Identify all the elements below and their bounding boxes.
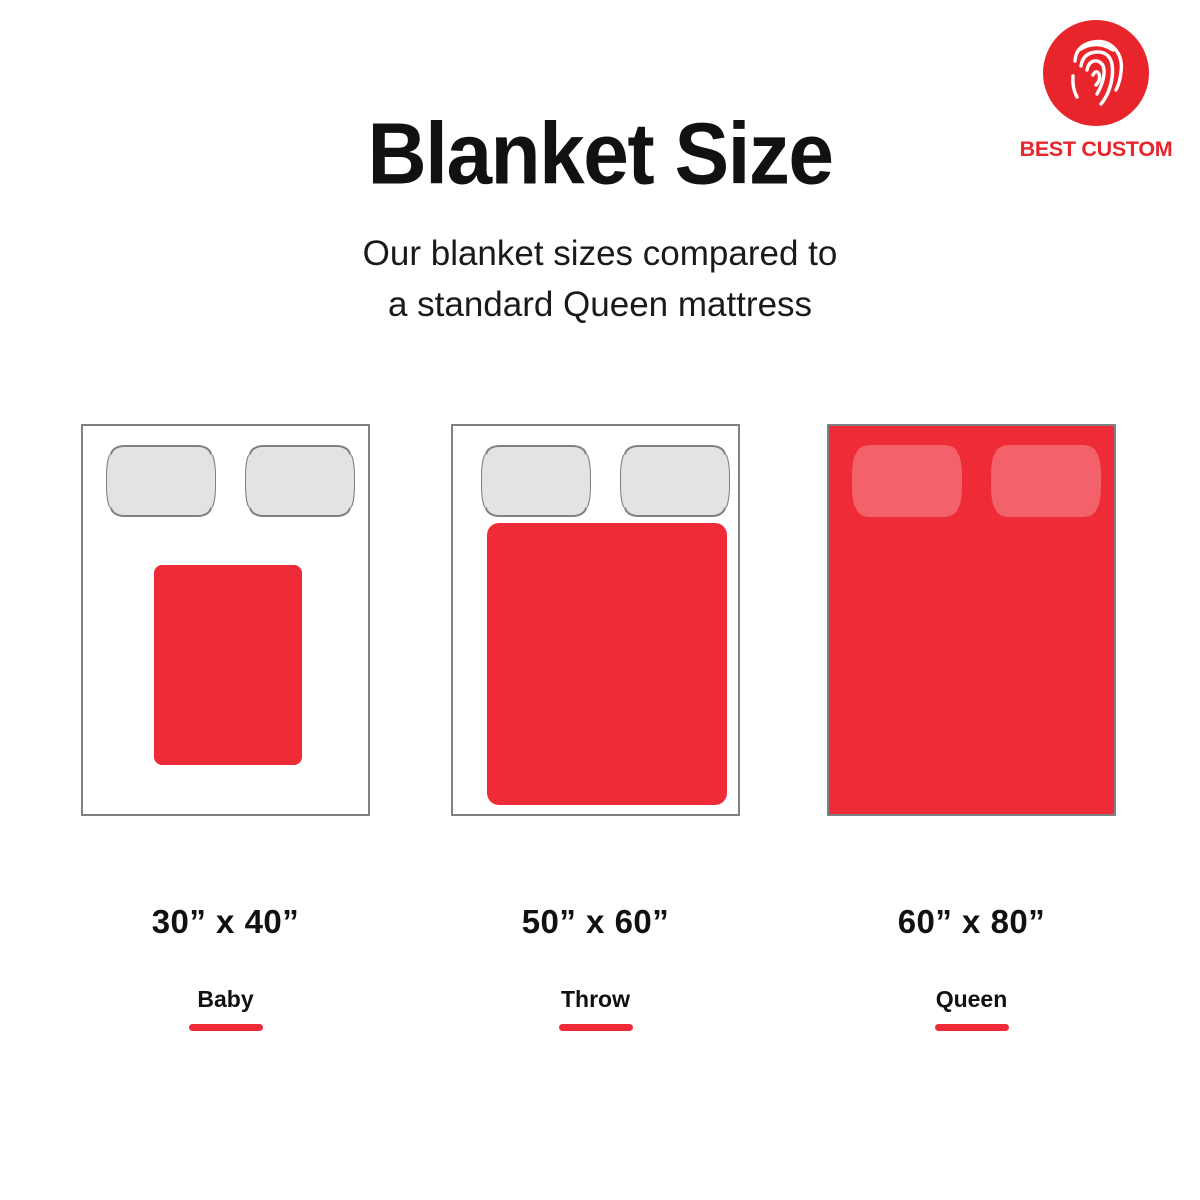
page-title: Blanket Size [0, 105, 1200, 205]
caption-underline-throw [559, 1024, 633, 1031]
pillow-1 [856, 445, 958, 517]
bed-caption-baby: 30” x 40”Baby [81, 903, 370, 1031]
caption-dimensions-queen: 60” x 80” [827, 903, 1116, 941]
mattress-outline [827, 424, 1116, 816]
page-subtitle-line-1: Our blanket sizes compared to [0, 228, 1200, 279]
blanket-overlay-baby [154, 565, 302, 765]
mattress-outline [451, 424, 740, 816]
pillow-1 [110, 445, 212, 517]
mattress-outline [81, 424, 370, 816]
page-subtitle: Our blanket sizes compared to a standard… [0, 228, 1200, 330]
caption-size-name-queen: Queen [827, 986, 1116, 1013]
blanket-overlay-throw [487, 523, 727, 805]
pillow-2 [624, 445, 726, 517]
caption-size-name-baby: Baby [81, 986, 370, 1013]
caption-dimensions-baby: 30” x 40” [81, 903, 370, 941]
caption-underline-queen [935, 1024, 1009, 1031]
caption-underline-baby [189, 1024, 263, 1031]
pillow-2 [249, 445, 351, 517]
caption-size-name-throw: Throw [451, 986, 740, 1013]
caption-dimensions-throw: 50” x 60” [451, 903, 740, 941]
page-subtitle-line-2: a standard Queen mattress [0, 279, 1200, 330]
pillow-2 [995, 445, 1097, 517]
bed-caption-throw: 50” x 60”Throw [451, 903, 740, 1031]
pillow-1 [485, 445, 587, 517]
bed-caption-queen: 60” x 80”Queen [827, 903, 1116, 1031]
